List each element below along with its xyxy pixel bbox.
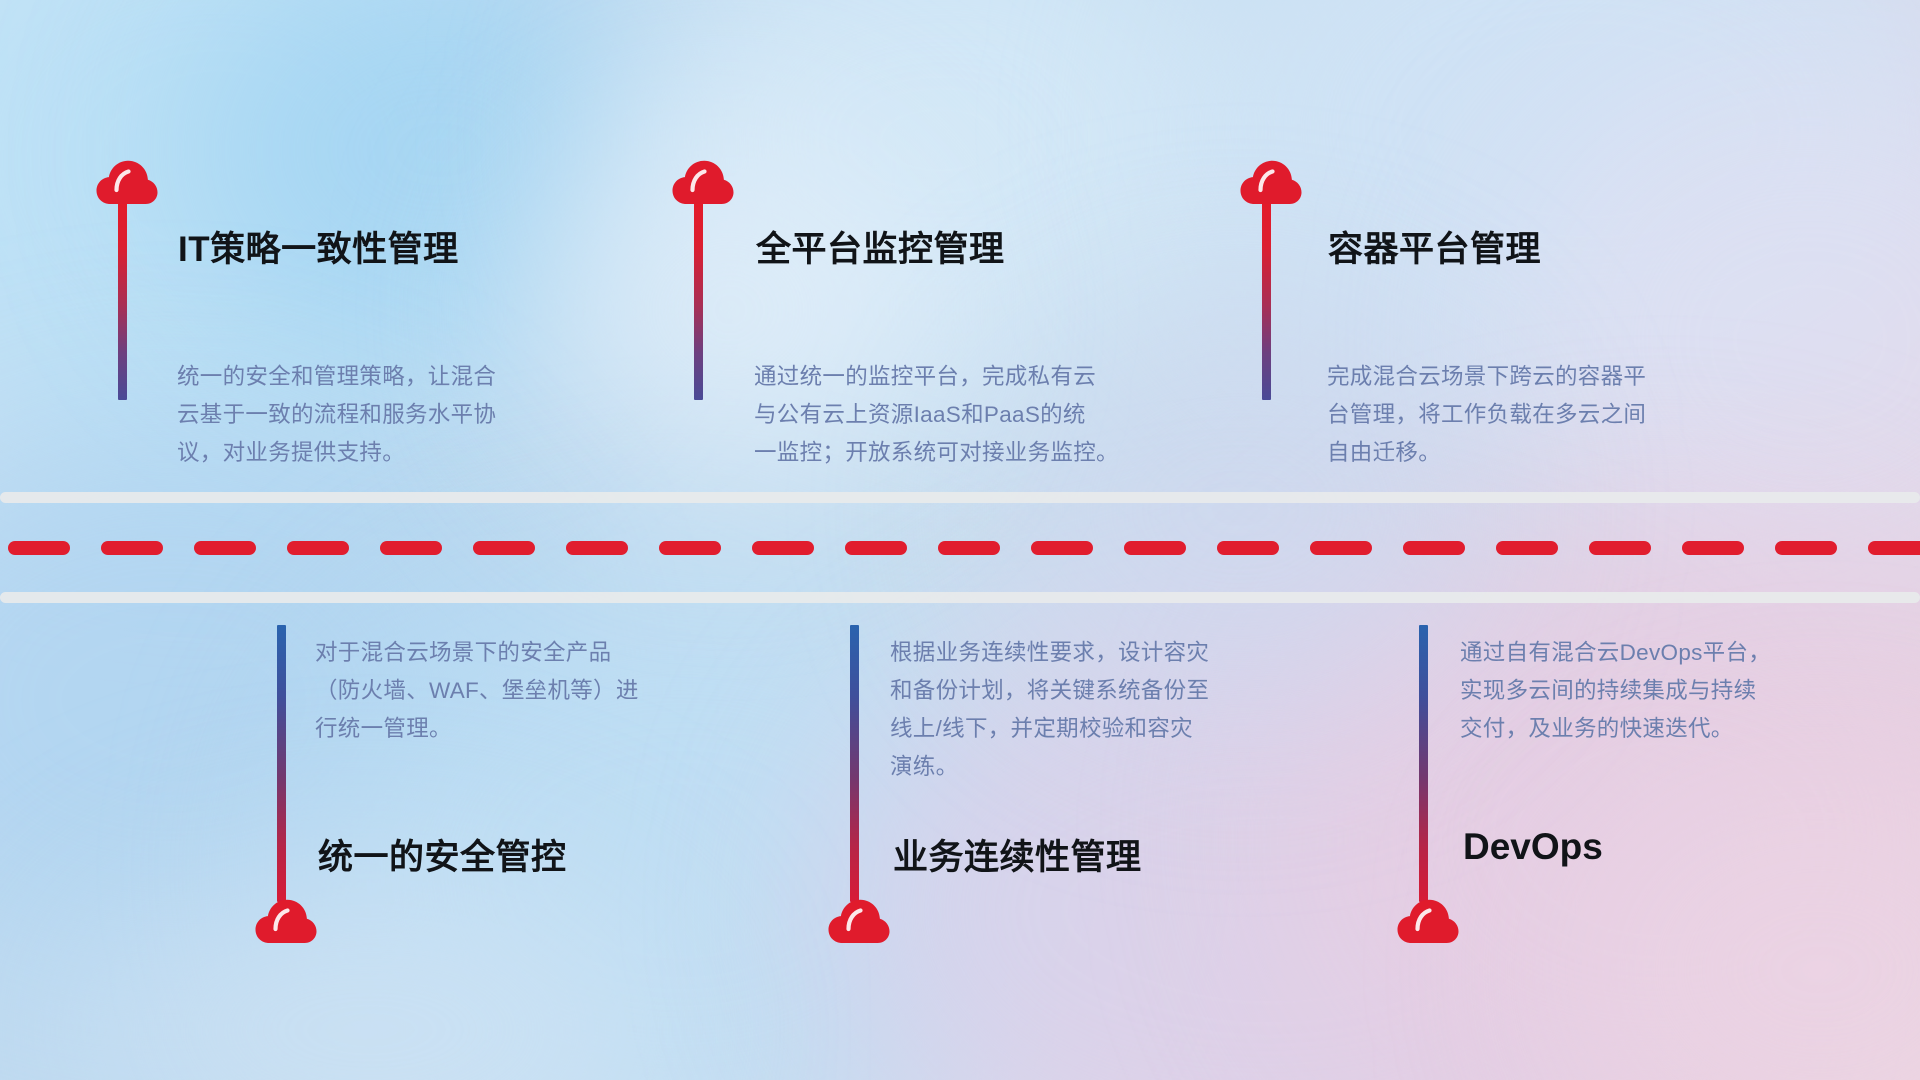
road-line-bottom [0,592,1920,603]
road-dash-segment [1031,541,1093,555]
card-title: DevOps [1463,826,1603,868]
road-dash-segment [380,541,442,555]
pin-stem [694,203,703,400]
road-dash-segment [566,541,628,555]
card-title: 业务连续性管理 [893,829,1142,880]
card-body: 完成混合云场景下跨云的容器平 台管理，将工作负载在多云之间 自由迁移。 [1327,358,1767,472]
road-dash-segment [1775,541,1837,555]
cloud-pin-icon [672,160,734,400]
road-dashed-centerline [0,541,1920,555]
road-dash-segment [473,541,535,555]
road-dash-segment [1217,541,1279,555]
road-dash-segment [845,541,907,555]
card-body: 根据业务连续性要求，设计容灾 和备份计划，将关键系统备份至 线上/线下，并定期校… [890,634,1320,786]
card-title: 全平台监控管理 [756,221,1005,272]
road-dash-segment [1589,541,1651,555]
road-dash-segment [752,541,814,555]
road-dash-segment [659,541,721,555]
cloud-icon [255,899,317,944]
road-dash-segment [1310,541,1372,555]
cloud-icon [1240,160,1302,205]
cloud-icon [672,160,734,205]
cloud-icon [828,899,890,944]
road-dash-segment [287,541,349,555]
road-dash-segment [1496,541,1558,555]
card-body: 对于混合云场景下的安全产品 （防火墙、WAF、堡垒机等）进 行统一管理。 [315,634,745,748]
road-dash-segment [101,541,163,555]
cloud-pin-icon [255,625,317,944]
pin-stem [850,625,859,902]
cloud-pin-icon [96,160,158,400]
card-body: 通过统一的监控平台，完成私有云 与公有云上资源IaaS和PaaS的统 一监控；开… [754,358,1204,472]
road-dash-segment [194,541,256,555]
cloud-icon [96,160,158,205]
cloud-pin-icon [1240,160,1302,400]
card-body: 统一的安全和管理策略，让混合 云基于一致的流程和服务水平协 议，对业务提供支持。 [177,358,607,472]
pin-stem [118,203,127,400]
card-title: IT策略一致性管理 [178,221,459,272]
pin-stem [277,625,286,902]
road-dash-segment [938,541,1000,555]
road-dash-segment [1868,541,1920,555]
card-title: 容器平台管理 [1328,221,1541,272]
pin-stem [1262,203,1271,400]
road-dash-segment [1124,541,1186,555]
cloud-pin-icon [1397,625,1459,944]
cloud-pin-icon [828,625,890,944]
cloud-icon [1397,899,1459,944]
road-line-top [0,492,1920,503]
road-dash-segment [1682,541,1744,555]
road-dash-segment [8,541,70,555]
card-body: 通过自有混合云DevOps平台， 实现多云间的持续集成与持续 交付，及业务的快速… [1460,634,1900,748]
card-title: 统一的安全管控 [318,829,567,880]
road-dash-segment [1403,541,1465,555]
pin-stem [1419,625,1428,902]
